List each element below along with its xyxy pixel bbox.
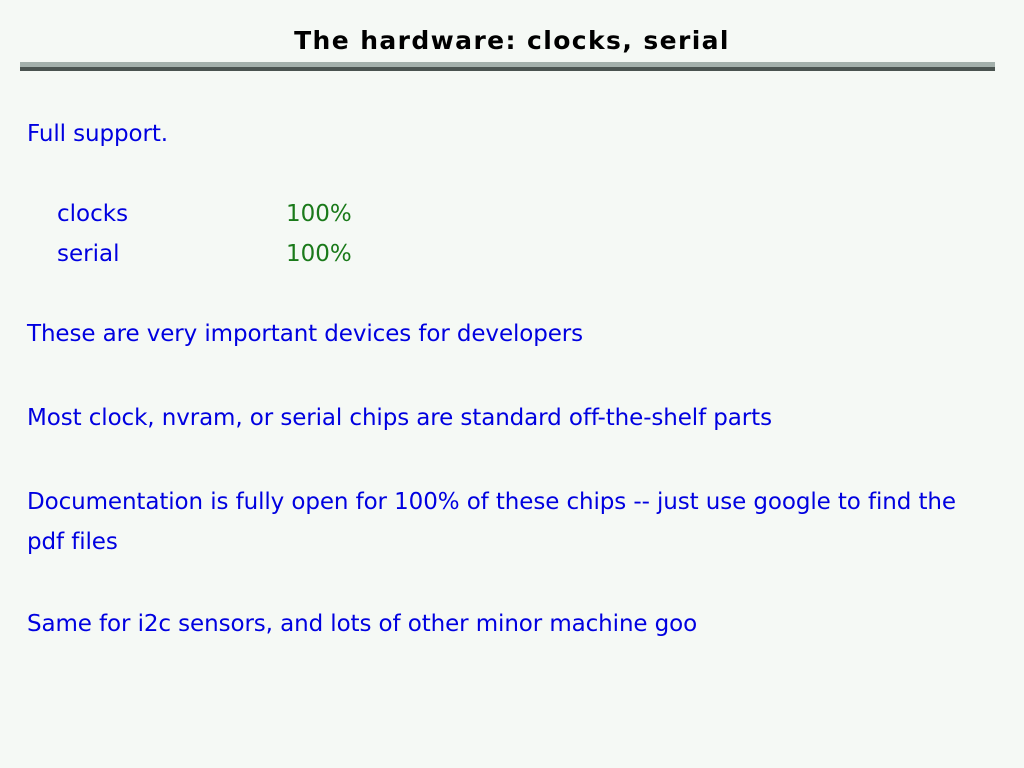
intro-text: Full support. xyxy=(27,114,168,154)
paragraph-chips: Most clock, nvram, or serial chips are s… xyxy=(27,398,772,438)
support-label-serial: serial xyxy=(57,234,119,274)
support-label-clocks: clocks xyxy=(57,194,128,234)
paragraph-devices: These are very important devices for dev… xyxy=(27,314,583,354)
slide: The hardware: clocks, serial Full suppor… xyxy=(0,0,1024,768)
table-row: clocks 100% xyxy=(57,194,457,234)
paragraph-documentation: Documentation is fully open for 100% of … xyxy=(27,482,957,562)
paragraph-sensors: Same for i2c sensors, and lots of other … xyxy=(27,604,697,644)
table-row: serial 100% xyxy=(57,234,457,274)
support-value-serial: 100% xyxy=(286,234,352,274)
support-value-clocks: 100% xyxy=(286,194,352,234)
support-table: clocks 100% serial 100% xyxy=(57,194,457,274)
slide-body: Full support. clocks 100% serial 100% Th… xyxy=(0,0,1024,768)
